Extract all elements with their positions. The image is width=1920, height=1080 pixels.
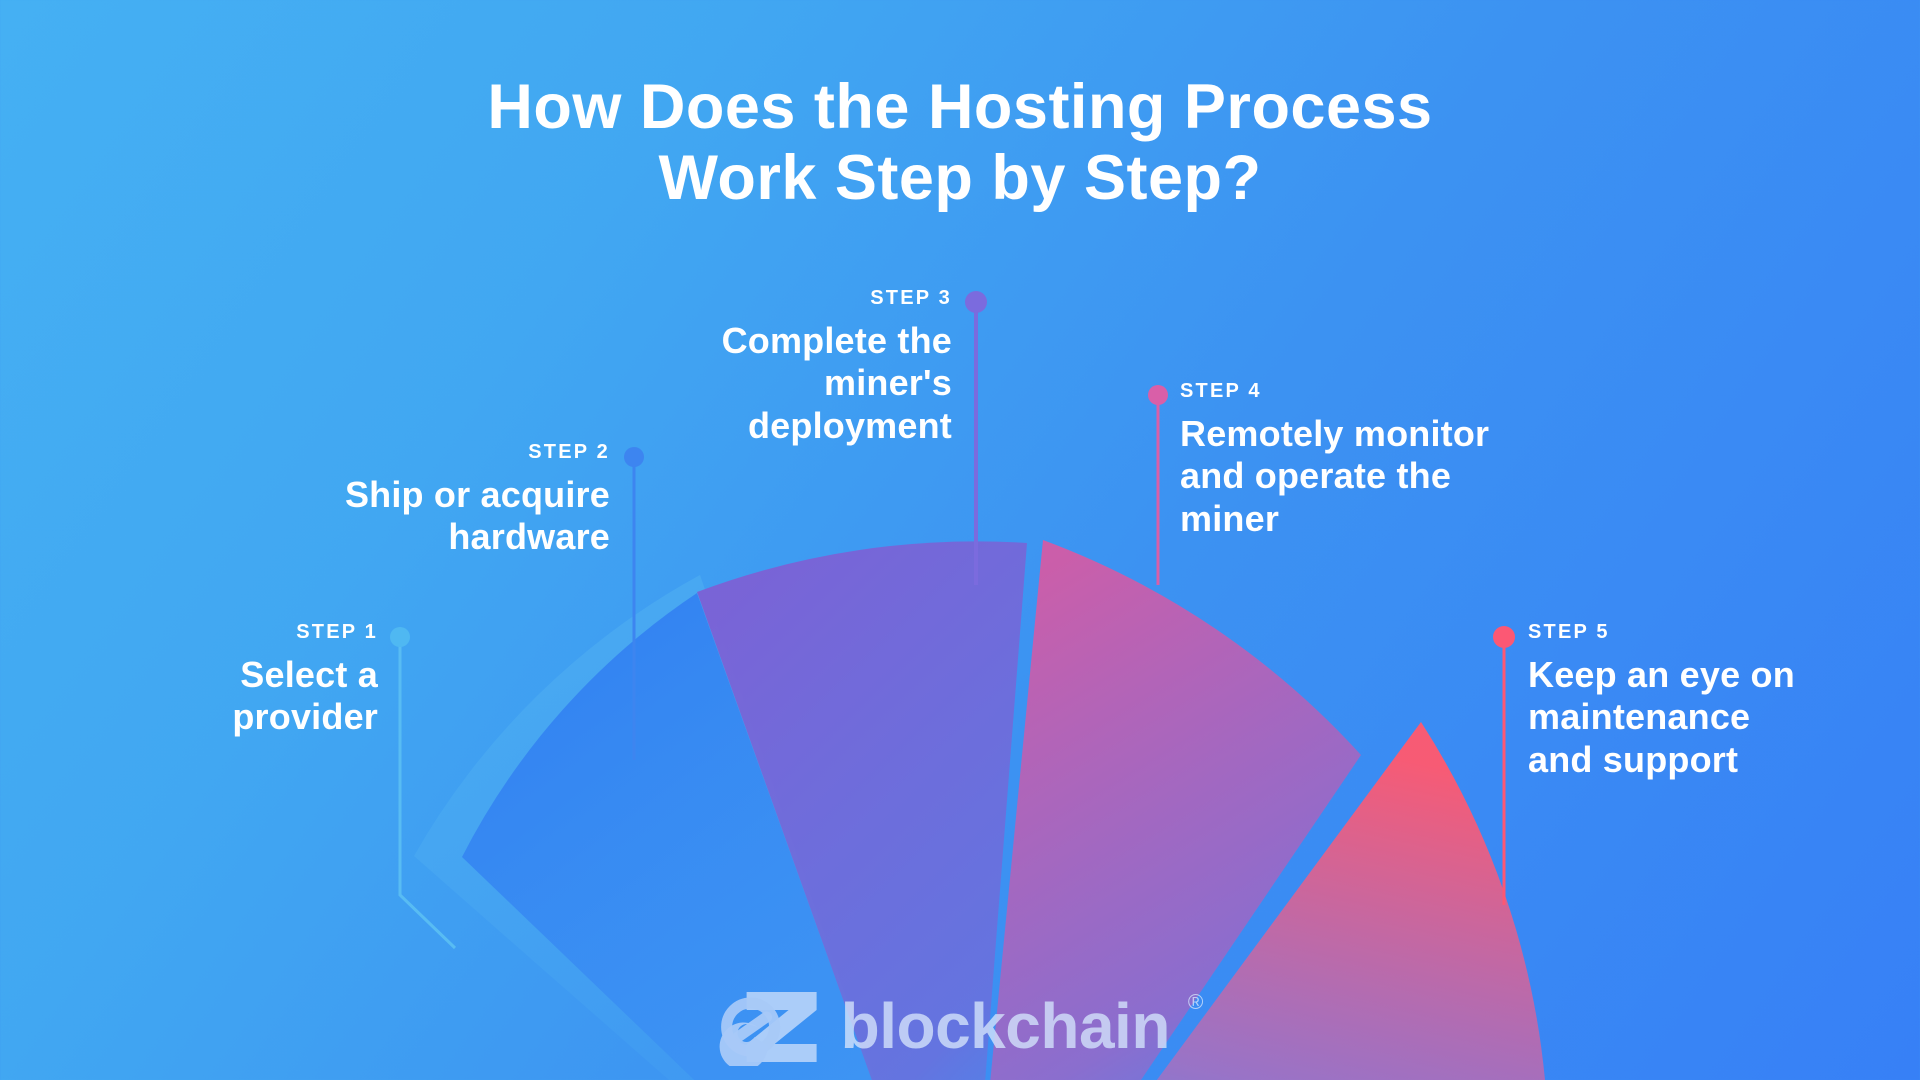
logo-wordmark: blockchain [841, 994, 1170, 1058]
step-callout-3: STEP 3 Complete the miner's deployment [560, 288, 952, 447]
registered-trademark-icon: ® [1188, 992, 1203, 1013]
ez-monogram-icon [717, 986, 825, 1066]
step-5-text: Keep an eye on maintenance and support [1528, 654, 1920, 781]
ez-blockchain-logo: blockchain ® [717, 986, 1204, 1066]
step-callout-5: STEP 5 Keep an eye on maintenance and su… [1528, 622, 1920, 781]
connector-dot-step-3 [965, 291, 987, 313]
connector-step-1 [400, 645, 455, 948]
step-callout-1: STEP 1 Select a provider [100, 622, 378, 739]
step-1-kicker: STEP 1 [100, 622, 378, 642]
step-4-text: Remotely monitor and operate the miner [1180, 413, 1630, 540]
connector-dot-step-1 [390, 627, 410, 647]
step-5-kicker: STEP 5 [1528, 622, 1920, 642]
step-callout-4: STEP 4 Remotely monitor and operate the … [1180, 381, 1630, 540]
connector-dot-step-2 [624, 447, 644, 467]
step-1-text: Select a provider [100, 654, 378, 739]
step-4-kicker: STEP 4 [1180, 381, 1630, 401]
page-title: How Does the Hosting Process Work Step b… [0, 72, 1920, 213]
connector-dot-step-5 [1493, 626, 1515, 648]
step-3-text: Complete the miner's deployment [560, 320, 952, 447]
connector-dot-step-4 [1148, 385, 1168, 405]
step-2-text: Ship or acquire hardware [170, 474, 610, 559]
step-3-kicker: STEP 3 [560, 288, 952, 308]
step-2-kicker: STEP 2 [170, 442, 610, 462]
step-callout-2: STEP 2 Ship or acquire hardware [170, 442, 610, 559]
